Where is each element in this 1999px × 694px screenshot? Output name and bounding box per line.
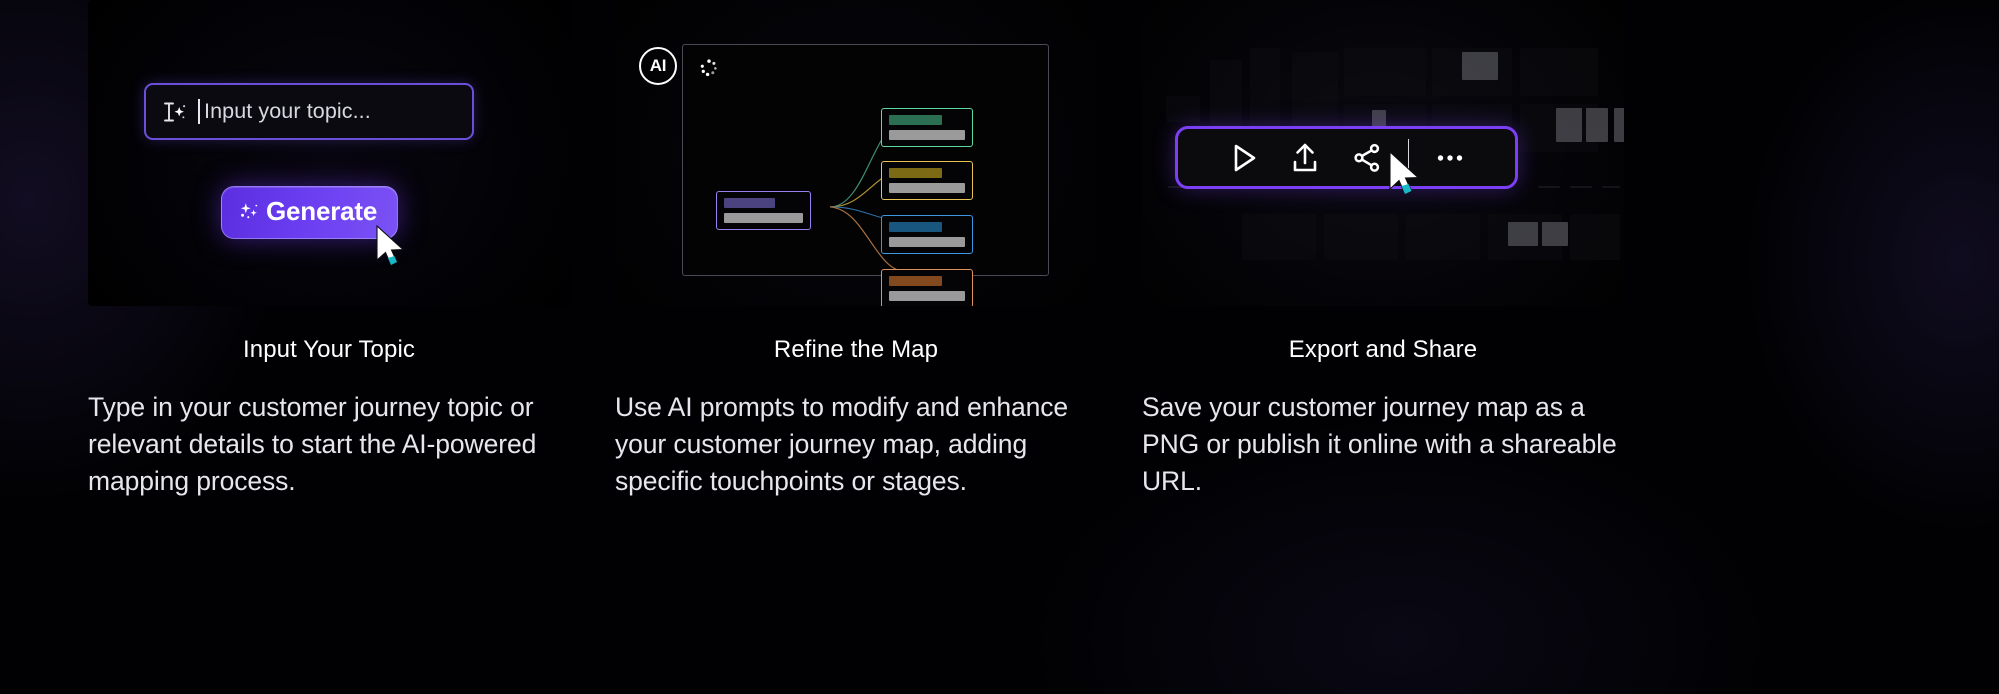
sparkles-icon [236,199,262,225]
node-content-bar [724,213,803,223]
step-column-export-share: Export and Share Save your customer jour… [1142,0,1624,694]
play-icon[interactable] [1212,129,1274,186]
mindmap-node-2[interactable] [881,161,973,200]
mindmap-node-root[interactable] [716,191,811,230]
export-share-toolbar [1175,126,1518,189]
node-content-bar [889,237,965,247]
node-content-bar [889,183,965,193]
mouse-pointer-icon [1386,150,1426,198]
step-1-body: Type in your customer journey topic or r… [88,389,570,499]
node-content-bar [889,291,965,301]
node-title-bar [889,115,942,125]
mindmap-graph [683,45,1048,275]
node-title-bar [889,276,942,286]
node-title-bar [889,222,942,232]
generate-button[interactable]: Generate [221,186,398,239]
step-2-body: Use AI prompts to modify and enhance you… [615,389,1097,499]
howto-steps-section: Input your topic... [0,0,1999,694]
step-2-title: Refine the Map [615,336,1097,364]
topic-input[interactable]: Input your topic... [144,83,474,140]
steps-columns: Input your topic... [0,0,1999,694]
mouse-pointer-icon [373,224,411,268]
mindmap-node-3[interactable] [881,215,973,254]
mindmap-node-4[interactable] [881,269,973,306]
step-1-illustration: Input your topic... [88,0,570,306]
topic-input-placeholder: Input your topic... [204,99,371,124]
generate-button-label: Generate [266,196,377,227]
more-options-icon[interactable] [1419,129,1481,186]
ai-circle-icon: AI [639,47,677,85]
step-3-title: Export and Share [1142,336,1624,364]
step-3-illustration [1142,0,1624,306]
mindmap-canvas[interactable] [682,44,1049,276]
node-title-bar [724,198,775,208]
node-title-bar [889,168,942,178]
text-cursor-sparkle-icon [162,99,188,125]
mindmap-node-1[interactable] [881,108,973,147]
node-content-bar [889,130,965,140]
step-column-refine-map: AI [615,0,1097,694]
step-3-body: Save your customer journey map as a PNG … [1142,389,1624,499]
text-caret [198,99,200,124]
step-2-illustration: AI [615,0,1097,306]
step-1-title: Input Your Topic [88,336,570,364]
ai-badge-label: AI [650,56,666,76]
export-upload-icon[interactable] [1274,129,1336,186]
step-column-input-topic: Input your topic... [88,0,570,694]
generate-button-wrap: Generate [221,186,398,239]
